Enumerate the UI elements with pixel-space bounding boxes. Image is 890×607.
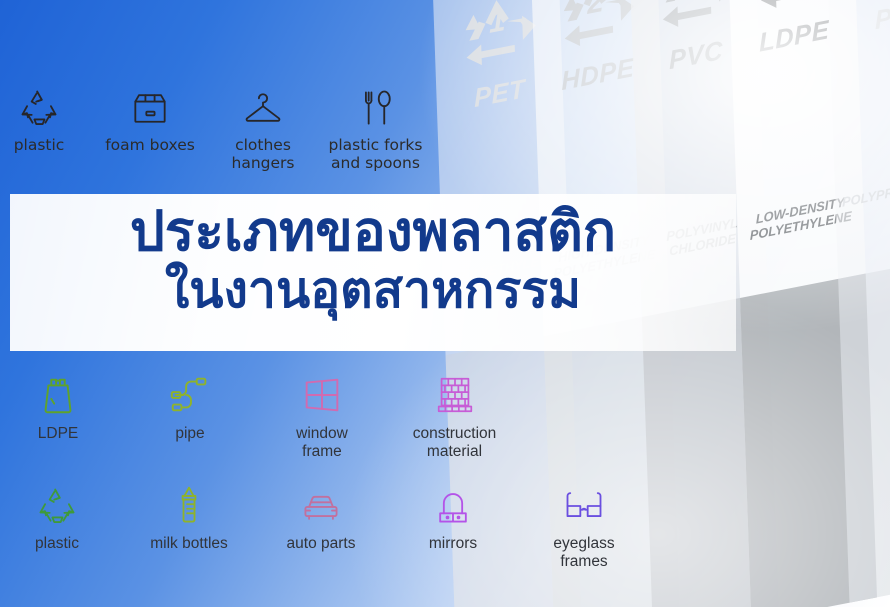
icon-row-bottom: plastic milk bottles auto parts mirrors … <box>0 484 890 594</box>
icon-label: plastic forksand spoons <box>329 137 423 173</box>
icon-label: clotheshangers <box>232 137 295 173</box>
icon-label: windowframe <box>296 425 348 461</box>
icon-cell-pipe: pipe <box>158 372 222 443</box>
recycling-triangle-icon: 3 <box>650 0 737 44</box>
title-banner: ประเภทของพลาสติก ในงานอุตสาหกรรม <box>10 194 736 351</box>
recycling-code-number: 1 <box>454 0 540 48</box>
icon-cell-baby-bottle: milk bottles <box>128 484 250 553</box>
recycling-code-full-line-1: LOW-DENSITY <box>741 192 859 230</box>
icon-cell-plastic-bag: LDPE <box>26 372 90 443</box>
recycling-code-number: 3 <box>651 0 737 9</box>
icon-label: milk bottles <box>150 535 228 553</box>
box-icon <box>128 86 172 130</box>
icon-label-line-2: frame <box>296 443 348 461</box>
recycle-icon <box>17 86 61 130</box>
recycling-code-abbr: LDPE <box>759 14 830 59</box>
pipe-icon <box>167 372 213 418</box>
icon-label: eyeglassframes <box>553 535 614 571</box>
icon-label: pipe <box>175 425 204 443</box>
hanger-icon <box>241 86 285 130</box>
icon-cell-fork-spoon: plastic forksand spoons <box>318 86 433 173</box>
icon-cell-window-frame: windowframe <box>282 372 362 461</box>
icon-label-line-2: frames <box>553 553 614 571</box>
icon-cell-mirror: mirrors <box>406 484 500 553</box>
icon-cell-car: auto parts <box>266 484 376 553</box>
recycling-triangle-icon: 5 <box>847 0 890 6</box>
mirror-icon <box>431 484 475 528</box>
title-line-2: ในงานอุตสาหกรรม <box>10 265 736 315</box>
icon-row-middle: LDPE pipe windowframe constructionmateri… <box>0 372 890 482</box>
poster-canvas: 1PETPOLYETHYLENETEREPHTHALATE 2HDPEHIGH-… <box>0 0 890 607</box>
icon-label: foam boxes <box>105 137 195 155</box>
fork-spoon-icon <box>354 86 398 130</box>
recycling-code-full-name: LOW-DENSITYPOLYETHYLENE <box>741 192 860 245</box>
brick-wall-icon <box>432 372 478 418</box>
icon-cell-brick-wall: constructionmaterial <box>392 372 517 461</box>
recycling-triangle-icon: 4 <box>748 0 835 25</box>
icon-label-line-1: construction <box>413 425 497 443</box>
icon-label-line-1: plastic forks <box>329 137 423 155</box>
icon-label-line-2: hangers <box>232 155 295 173</box>
icon-label: mirrors <box>429 535 477 553</box>
page-title: ประเภทของพลาสติก ในงานอุตสาหกรรม <box>10 204 736 315</box>
icon-label-line-1: clothes <box>232 137 295 155</box>
icon-row-top: plastic foam boxes clotheshangers plasti… <box>0 86 890 196</box>
recycle-icon <box>35 484 79 528</box>
eyeglasses-icon <box>562 484 606 528</box>
recycling-triangle-icon: 1 <box>454 0 541 82</box>
window-frame-icon <box>299 372 345 418</box>
icon-cell-hanger: clotheshangers <box>225 86 301 173</box>
icon-cell-eyeglasses: eyeglassframes <box>530 484 638 571</box>
icon-label-line-1: eyeglass <box>553 535 614 553</box>
icon-label: plastic <box>14 137 65 155</box>
icon-label: constructionmaterial <box>413 425 497 461</box>
icon-cell-recycle: plastic <box>24 484 90 553</box>
icon-cell-box: foam boxes <box>100 86 200 155</box>
recycling-code-abbr: PP <box>874 0 890 36</box>
icon-label: plastic <box>35 535 79 553</box>
title-line-1: ประเภทของพลาสติก <box>10 204 736 259</box>
icon-label-line-2: material <box>413 443 497 461</box>
recycling-triangle-icon: 2 <box>552 0 639 63</box>
recycling-code-full-line-2: POLYETHYLENE <box>742 207 860 245</box>
recycling-code-number: 2 <box>553 0 639 29</box>
icon-label-line-1: window <box>296 425 348 443</box>
baby-bottle-icon <box>167 484 211 528</box>
icon-label: auto parts <box>287 535 356 553</box>
recycling-code-abbr: PVC <box>668 34 723 76</box>
icon-cell-recycle: plastic <box>10 86 68 155</box>
icon-label-line-2: and spoons <box>329 155 423 173</box>
car-icon <box>299 484 343 528</box>
plastic-bag-icon <box>35 372 81 418</box>
icon-label: LDPE <box>38 425 79 443</box>
